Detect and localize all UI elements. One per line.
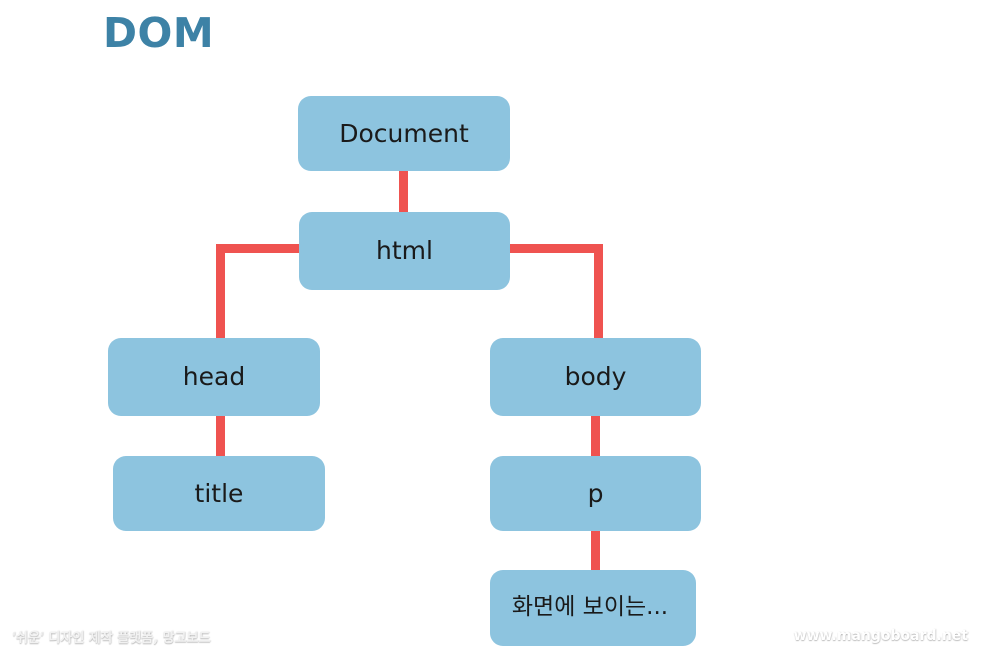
tree-node-label: html (368, 237, 441, 265)
tree-node-label: p (580, 480, 612, 508)
connector-head-title (216, 412, 225, 460)
footer-watermark-url: www.mangoboard.net (794, 628, 968, 644)
tree-node-document[interactable]: Document (298, 96, 510, 171)
slide-canvas: DOM Document html head body title p 화면에 … (0, 0, 985, 663)
tree-node-label: head (175, 363, 253, 391)
tree-node-text-content[interactable]: 화면에 보이는... (490, 570, 696, 646)
connector-html-body-horizontal (504, 244, 603, 253)
connector-html-head-horizontal (216, 244, 306, 253)
tree-node-label: Document (331, 120, 477, 148)
tree-node-label: title (187, 480, 252, 508)
tree-node-title[interactable]: title (113, 456, 325, 531)
connector-html-head-vertical (216, 244, 225, 342)
tree-node-head[interactable]: head (108, 338, 320, 416)
tree-node-label: 화면에 보이는... (510, 595, 676, 620)
tree-node-html[interactable]: html (299, 212, 510, 290)
page-title: DOM (103, 10, 214, 57)
connector-body-p (591, 412, 600, 460)
tree-node-p[interactable]: p (490, 456, 701, 531)
tree-node-label: body (557, 363, 635, 391)
connector-document-html (399, 168, 408, 216)
connector-p-text (591, 527, 600, 574)
footer-watermark-left: '쉬운' 디자인 제작 플랫폼, 망고보드 (12, 627, 210, 646)
tree-node-body[interactable]: body (490, 338, 701, 416)
connector-html-body-vertical (594, 244, 603, 342)
